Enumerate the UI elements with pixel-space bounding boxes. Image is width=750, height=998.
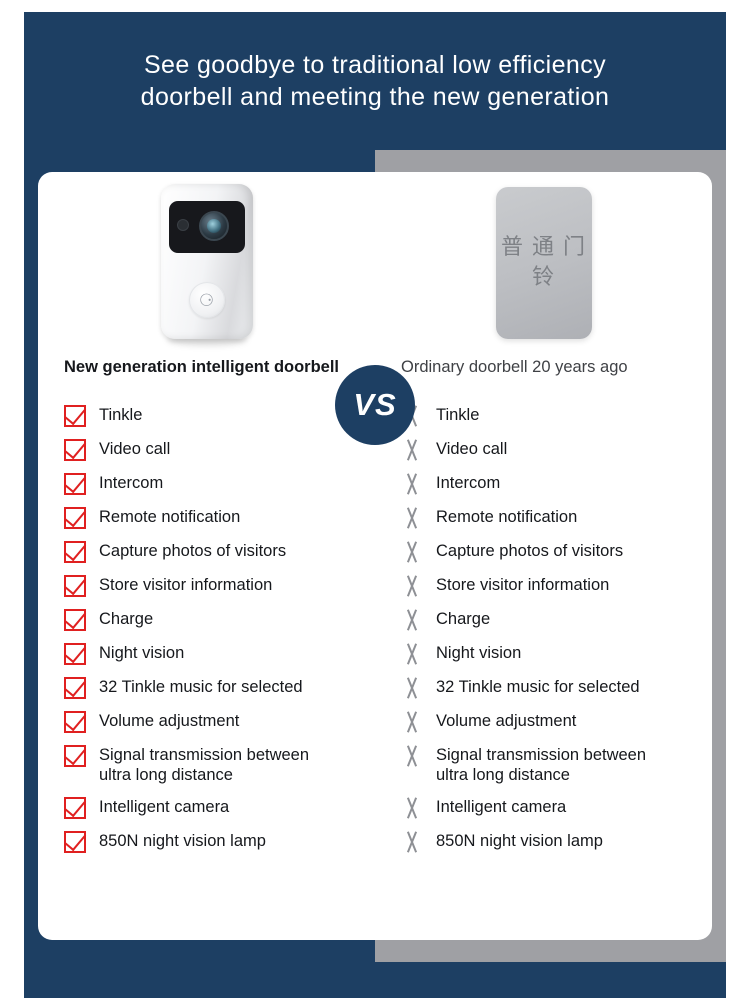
feature-label: Store visitor information — [99, 574, 272, 595]
feature-label: Video call — [436, 438, 507, 459]
check-icon — [64, 473, 86, 495]
list-item: Signal transmission between ultra long d… — [401, 744, 712, 785]
feature-label: Video call — [99, 438, 170, 459]
ordinary-doorbell-card: 普 通 门 铃 Ordinary doorbell 20 years ago T… — [375, 172, 712, 940]
feature-label: Remote notification — [436, 506, 577, 527]
check-icon — [64, 643, 86, 665]
ordinary-doorbell-image: 普 通 门 铃 — [375, 172, 712, 354]
cross-icon — [401, 609, 423, 631]
feature-label: Intelligent camera — [436, 796, 566, 817]
list-item: 32 Tinkle music for selected — [64, 676, 375, 700]
list-item: Capture photos of visitors — [401, 540, 712, 564]
check-icon — [64, 575, 86, 597]
feature-label: 32 Tinkle music for selected — [99, 676, 303, 697]
check-icon — [64, 541, 86, 563]
cross-icon — [401, 677, 423, 699]
feature-label: Night vision — [436, 642, 521, 663]
list-item: Capture photos of visitors — [64, 540, 375, 564]
feature-label: Store visitor information — [436, 574, 609, 595]
left-feature-list: Tinkle Video call Intercom Remote notifi… — [38, 392, 375, 854]
right-column-heading: Ordinary doorbell 20 years ago — [375, 358, 712, 392]
cross-icon — [401, 439, 423, 461]
new-generation-card: ⚆ New generation intelligent doorbell Ti… — [38, 172, 375, 940]
feature-label: Signal transmission between ultra long d… — [99, 744, 309, 785]
check-icon — [64, 831, 86, 853]
list-item: Intercom — [401, 472, 712, 496]
cross-icon — [401, 797, 423, 819]
feature-label: Tinkle — [99, 404, 142, 425]
feature-label: Signal transmission between ultra long d… — [436, 744, 646, 785]
check-icon — [64, 507, 86, 529]
feature-label: Intercom — [436, 472, 500, 493]
cross-icon — [401, 473, 423, 495]
headline-text: See goodbye to traditional low efficienc… — [121, 49, 630, 113]
list-item: Video call — [401, 438, 712, 462]
right-feature-list: Tinkle Video call Intercom Remote notifi… — [375, 392, 712, 854]
list-item: Intercom — [64, 472, 375, 496]
list-item: Night vision — [64, 642, 375, 666]
feature-label: Charge — [99, 608, 153, 629]
feature-label: Tinkle — [436, 404, 479, 425]
bell-glyph: ⚆ — [199, 292, 214, 309]
check-icon — [64, 711, 86, 733]
list-item: Store visitor information — [401, 574, 712, 598]
smart-doorbell-image: ⚆ — [38, 172, 375, 354]
feature-label: Volume adjustment — [99, 710, 239, 731]
list-item: 32 Tinkle music for selected — [401, 676, 712, 700]
list-item: Volume adjustment — [401, 710, 712, 734]
feature-label: 850N night vision lamp — [99, 830, 266, 851]
cross-icon — [401, 643, 423, 665]
list-item: Remote notification — [401, 506, 712, 530]
headline-banner: See goodbye to traditional low efficienc… — [24, 12, 726, 150]
doorbell-button-icon: ⚆ — [189, 282, 225, 318]
list-item: Charge — [401, 608, 712, 632]
list-item: Volume adjustment — [64, 710, 375, 734]
feature-label: Night vision — [99, 642, 184, 663]
feature-label: Remote notification — [99, 506, 240, 527]
vs-badge: VS — [335, 365, 415, 445]
ir-sensor-icon — [178, 220, 188, 230]
list-item: Video call — [64, 438, 375, 462]
list-item: Intelligent camera — [64, 796, 375, 820]
cross-icon — [401, 831, 423, 853]
feature-label: Intelligent camera — [99, 796, 229, 817]
check-icon — [64, 439, 86, 461]
feature-label: Capture photos of visitors — [436, 540, 623, 561]
check-icon — [64, 677, 86, 699]
cross-icon — [401, 541, 423, 563]
list-item: 850N night vision lamp — [64, 830, 375, 854]
list-item: Remote notification — [64, 506, 375, 530]
promo-page: See goodbye to traditional low efficienc… — [0, 0, 750, 998]
check-icon — [64, 405, 86, 427]
check-icon — [64, 745, 86, 767]
list-item: Tinkle — [401, 404, 712, 428]
ordinary-doorbell-block-icon: 普 通 门 铃 — [496, 187, 592, 339]
list-item: Signal transmission between ultra long d… — [64, 744, 375, 785]
feature-label: Capture photos of visitors — [99, 540, 286, 561]
feature-label: 32 Tinkle music for selected — [436, 676, 640, 697]
cross-icon — [401, 575, 423, 597]
list-item: Charge — [64, 608, 375, 632]
check-icon — [64, 797, 86, 819]
cross-icon — [401, 507, 423, 529]
left-column-heading: New generation intelligent doorbell — [38, 358, 375, 392]
bottom-strip — [24, 962, 726, 998]
feature-label: Volume adjustment — [436, 710, 576, 731]
cross-icon — [401, 711, 423, 733]
cross-icon — [401, 745, 423, 767]
ordinary-doorbell-label: 普 通 门 铃 — [496, 233, 592, 292]
check-icon — [64, 609, 86, 631]
list-item: 850N night vision lamp — [401, 830, 712, 854]
list-item: Store visitor information — [64, 574, 375, 598]
list-item: Intelligent camera — [401, 796, 712, 820]
list-item: Tinkle — [64, 404, 375, 428]
comparison-panel: ⚆ New generation intelligent doorbell Ti… — [24, 150, 726, 962]
feature-label: 850N night vision lamp — [436, 830, 603, 851]
feature-label: Intercom — [99, 472, 163, 493]
list-item: Night vision — [401, 642, 712, 666]
smart-video-doorbell-icon: ⚆ — [161, 184, 253, 342]
feature-label: Charge — [436, 608, 490, 629]
